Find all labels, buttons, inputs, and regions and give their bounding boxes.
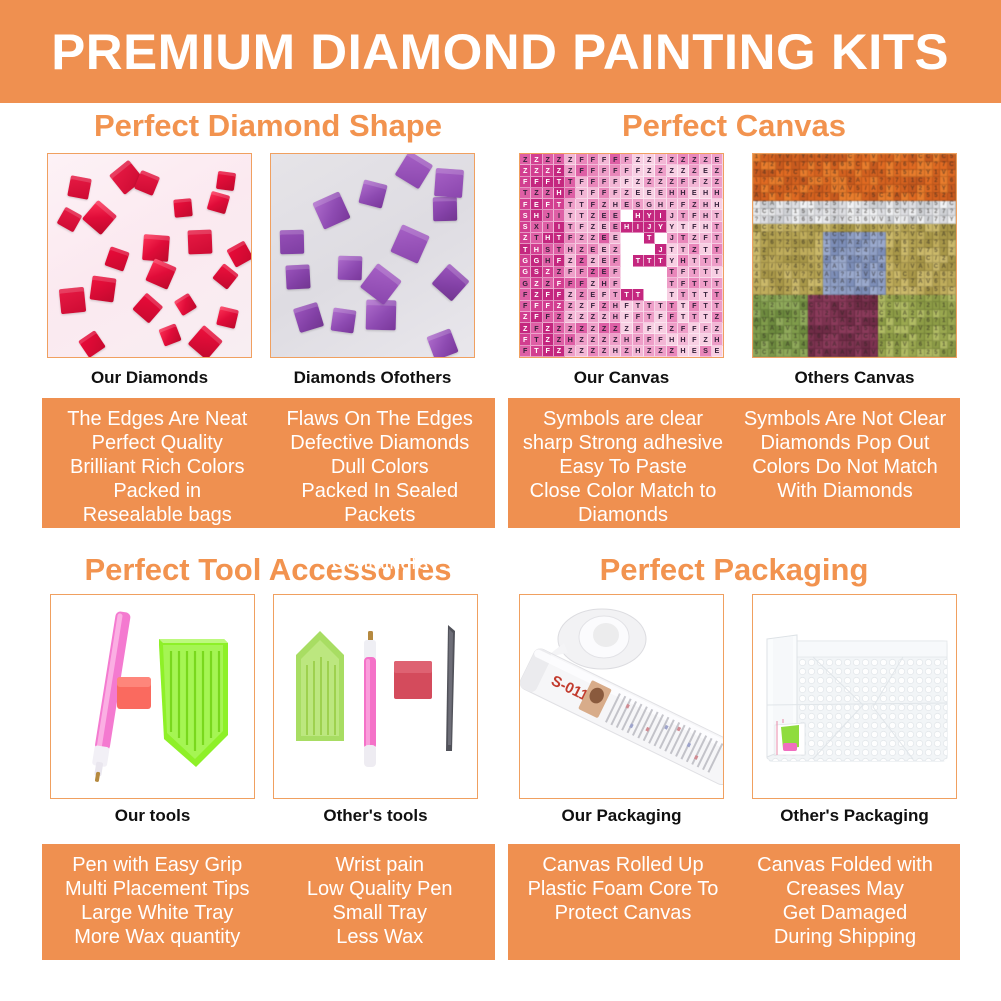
blurry-canvas-cell: C: [855, 162, 863, 170]
blurry-canvas-cell: 1: [792, 209, 800, 217]
canvas-symbol-cell: Z: [678, 165, 689, 176]
blurry-canvas-cell: V: [839, 177, 847, 185]
blurry-canvas-cell: ?: [761, 295, 769, 303]
blurry-canvas-cell: 4: [784, 201, 792, 209]
blurry-canvas-cell: 2: [925, 349, 933, 357]
blurry-canvas-cell: \: [800, 170, 808, 178]
canvas-symbol-cell: F: [700, 323, 711, 334]
canvas-symbol-cell: T: [700, 278, 711, 289]
canvas-symbol-cell: F: [531, 177, 542, 188]
canvas-symbol-cell: T: [644, 289, 655, 300]
blurry-canvas-cell: 5: [808, 216, 816, 224]
canvas-symbol-cell: T: [689, 312, 700, 323]
canvas-symbol-cell: Z: [576, 334, 587, 345]
blurry-canvas-cell: ?: [901, 232, 909, 240]
panel-column-our-packaging: Canvas Rolled Up Plastic Foam Core To Pr…: [512, 853, 734, 925]
canvas-symbol-cell: E: [689, 188, 700, 199]
blurry-canvas-cell: 7: [800, 185, 808, 193]
canvas-symbol-cell: T: [565, 210, 576, 221]
canvas-symbol-cell: Z: [678, 154, 689, 165]
canvas-symbol-cell: T: [644, 278, 655, 289]
canvas-symbol-cell: T: [565, 199, 576, 210]
diamond-bead: [158, 323, 181, 346]
blurry-canvas-cell: 6: [886, 209, 894, 217]
blurry-canvas-cell: \: [761, 279, 769, 287]
canvas-symbol-cell: Z: [543, 267, 554, 278]
blurry-canvas-cell: \: [784, 216, 792, 224]
blurry-canvas-cell: 2: [800, 318, 808, 326]
blurry-canvas-cell: 1: [940, 302, 948, 310]
blurry-canvas-cell: V: [901, 341, 909, 349]
our-tools-illustration: [51, 595, 255, 799]
blurry-canvas-cell: /: [909, 271, 917, 279]
blurry-canvas-cell: \: [761, 310, 769, 318]
blurry-canvas-cell: C: [886, 279, 894, 287]
text-panel-packaging: Canvas Rolled Up Plastic Foam Core To Pr…: [508, 844, 960, 960]
canvas-symbol-cell: S: [520, 222, 531, 233]
blurry-canvas-cell: A: [784, 341, 792, 349]
blurry-canvas-cell: 1: [917, 256, 925, 264]
canvas-symbol-cell: Z: [655, 177, 666, 188]
blurry-canvas-cell: 5: [761, 341, 769, 349]
photo-our-tools: [50, 594, 255, 799]
canvas-symbol-cell: F: [689, 177, 700, 188]
blurry-canvas-cell: 5: [940, 326, 948, 334]
blurry-canvas-cell: 2: [784, 224, 792, 232]
blurry-canvas-cell: \: [948, 185, 956, 193]
canvas-symbol-cell: T: [531, 346, 542, 357]
canvas-symbol-cell: T: [667, 267, 678, 278]
blurry-canvas-cell: A: [894, 193, 902, 201]
canvas-symbol-cell: Z: [667, 177, 678, 188]
blurry-canvas-cell: \: [878, 154, 886, 162]
blurry-canvas-cell: 7: [792, 318, 800, 326]
blurry-canvas-cell: 2: [769, 295, 777, 303]
blurry-canvas-cell: A: [909, 256, 917, 264]
blurry-canvas-cell: /: [847, 224, 855, 232]
blurry-canvas-cell: A: [855, 341, 863, 349]
blurry-canvas-cell: /: [901, 263, 909, 271]
blurry-canvas-cell: C: [761, 232, 769, 240]
canvas-symbol-cell: Z: [576, 323, 587, 334]
canvas-symbol-cell: F: [610, 267, 621, 278]
blurry-canvas-cell: 4: [792, 349, 800, 357]
canvas-symbol-cell: Z: [565, 301, 576, 312]
blurry-canvas-cell: 6: [862, 287, 870, 295]
blurry-canvas-cell: \: [831, 271, 839, 279]
blurry-canvas-cell: V: [901, 154, 909, 162]
canvas-symbol-cell: H: [700, 222, 711, 233]
blurry-canvas-cell: 5: [855, 185, 863, 193]
blurry-canvas-cell: 2: [769, 162, 777, 170]
canvas-symbol-cell: T: [554, 244, 565, 255]
canvas-symbol-cell: Y: [667, 255, 678, 266]
blurry-canvas-cell: 5: [815, 287, 823, 295]
blurry-canvas-cell: /: [878, 162, 886, 170]
blurry-canvas-cell: V: [925, 162, 933, 170]
blurry-canvas-cell: \: [753, 334, 761, 342]
blurry-canvas-cell: 6: [808, 295, 816, 303]
canvas-symbol-cell: F: [543, 199, 554, 210]
blurry-canvas-cell: ?: [792, 201, 800, 209]
blurry-canvas-cell: ?: [909, 162, 917, 170]
blurry-canvas-cell: V: [878, 279, 886, 287]
canvas-symbol-cell: F: [588, 177, 599, 188]
blurry-canvas-cell: A: [948, 302, 956, 310]
diamond-bead: [173, 198, 192, 217]
canvas-symbol-cell: Z: [576, 289, 587, 300]
blurry-canvas-cell: \: [800, 248, 808, 256]
blurry-canvas-cell: 2: [917, 170, 925, 178]
canvas-symbol-cell: Y: [655, 222, 666, 233]
blurry-canvas-cell: 5: [823, 177, 831, 185]
blurry-canvas-cell: /: [948, 349, 956, 357]
blurry-canvas-cell: C: [847, 154, 855, 162]
blurry-canvas-cell: V: [855, 224, 863, 232]
blurry-canvas-cell: 7: [761, 162, 769, 170]
canvas-symbol-cell: H: [655, 199, 666, 210]
blurry-canvas-cell: 5: [933, 248, 941, 256]
blurry-canvas-cell: ?: [808, 279, 816, 287]
blurry-canvas-cell: \: [753, 177, 761, 185]
blurry-canvas-cell: Y: [776, 232, 784, 240]
blurry-canvas-cell: 6: [808, 263, 816, 271]
blurry-canvas-cell: ?: [847, 201, 855, 209]
diamond-bead: [174, 293, 197, 316]
diamond-bead: [188, 230, 213, 255]
canvas-symbol-cell: Z: [588, 278, 599, 289]
blurry-canvas-cell: 2: [761, 248, 769, 256]
canvas-symbol-cell: H: [678, 334, 689, 345]
canvas-symbol-cell: F: [565, 267, 576, 278]
canvas-symbol-cell: T: [531, 334, 542, 345]
blurry-canvas-cell: C: [917, 232, 925, 240]
canvas-symbol-cell: Z: [599, 301, 610, 312]
blurry-canvas-cell: A: [831, 263, 839, 271]
blurry-canvas-cell: Y: [901, 185, 909, 193]
panel-column-other-packaging: Canvas Folded with Creases May Get Damag…: [734, 853, 956, 949]
blurry-canvas-cell: 1: [909, 177, 917, 185]
blurry-canvas-cell: 1: [831, 326, 839, 334]
text-panel-canvas: Symbols are clear sharp Strong adhesive …: [508, 398, 960, 528]
canvas-symbol-cell: Z: [520, 233, 531, 244]
blurry-canvas-cell: C: [808, 302, 816, 310]
blurry-canvas-cell: 5: [776, 295, 784, 303]
canvas-symbol-cell: Z: [531, 165, 542, 176]
blurry-canvas-cell: 4: [792, 326, 800, 334]
canvas-symbol-cell: T: [621, 289, 632, 300]
blurry-canvas-cell: 6: [815, 334, 823, 342]
blurry-canvas-cell: ?: [815, 170, 823, 178]
blurry-canvas-cell: 2: [823, 334, 831, 342]
blurry-canvas-cell: 4: [753, 271, 761, 279]
blurry-canvas-cell: 7: [862, 302, 870, 310]
blurry-canvas-cell: /: [823, 318, 831, 326]
blurry-canvas-cell: \: [839, 154, 847, 162]
canvas-symbol-cell: F: [621, 154, 632, 165]
canvas-symbol-cell: E: [610, 233, 621, 244]
canvas-symbol-cell: F: [531, 323, 542, 334]
blurry-canvas-cell: 5: [815, 302, 823, 310]
blurry-canvas-cell: 1: [808, 201, 816, 209]
canvas-symbol-cell: J: [655, 233, 666, 244]
blurry-canvas-cell: ?: [909, 349, 917, 357]
other-tools-art: [274, 595, 477, 798]
blurry-canvas-cell: ?: [933, 318, 941, 326]
canvas-symbol-cell: G: [520, 267, 531, 278]
canvas-symbol-cell: J: [655, 244, 666, 255]
blurry-canvas-cell: 7: [753, 185, 761, 193]
blurry-canvas-cell: 7: [823, 302, 831, 310]
canvas-symbol-grid: ZZZZZFFFFFZZFZZZZEZZZZZFFFFFFZZZZZEZFFFT…: [520, 154, 723, 357]
blurry-canvas-cell: /: [761, 263, 769, 271]
canvas-symbol-cell: F: [610, 165, 621, 176]
canvas-symbol-cell: Z: [599, 334, 610, 345]
blurry-canvas-cell: V: [886, 224, 894, 232]
blurry-canvas-cell: 1: [855, 271, 863, 279]
blurry-canvas-cell: ?: [940, 279, 948, 287]
canvas-symbol-cell: G: [520, 255, 531, 266]
blurry-canvas-cell: 1: [933, 326, 941, 334]
blurry-canvas-cell: 6: [933, 279, 941, 287]
blurry-canvas-cell: Y: [909, 216, 917, 224]
blurry-canvas-cell: 4: [815, 326, 823, 334]
blurry-canvas-cell: 1: [815, 240, 823, 248]
blurry-canvas-cell: 2: [933, 177, 941, 185]
canvas-symbol-cell: F: [655, 312, 666, 323]
blurry-canvas-cell: 7: [894, 162, 902, 170]
blurry-canvas-cell: V: [761, 318, 769, 326]
blurry-canvas-cell: 1: [784, 256, 792, 264]
blurry-canvas-cell: Y: [917, 162, 925, 170]
blurry-canvas-cell: \: [925, 232, 933, 240]
blurry-canvas-cell: Y: [862, 154, 870, 162]
caption-other-packaging: Other's Packaging: [752, 806, 957, 826]
canvas-symbol-cell: F: [554, 255, 565, 266]
blurry-canvas-cell: Y: [839, 216, 847, 224]
canvas-symbol-cell: E: [599, 267, 610, 278]
caption-other-diamonds: Diamonds Ofothers: [270, 368, 475, 388]
blurry-canvas-cell: 2: [839, 302, 847, 310]
blurry-canvas-cell: /: [839, 201, 847, 209]
canvas-symbol-cell: Z: [599, 199, 610, 210]
blurry-canvas-cell: 6: [839, 287, 847, 295]
canvas-symbol-cell: Z: [599, 312, 610, 323]
canvas-symbol-cell: F: [588, 188, 599, 199]
blurry-canvas-cell: 5: [776, 310, 784, 318]
canvas-symbol-cell: Z: [520, 165, 531, 176]
canvas-symbol-cell: H: [667, 188, 678, 199]
blurry-canvas-cell: 7: [933, 216, 941, 224]
diamond-bead: [360, 263, 401, 304]
canvas-symbol-cell: Z: [565, 154, 576, 165]
canvas-symbol-cell: F: [621, 165, 632, 176]
blurry-canvas-cell: 5: [917, 224, 925, 232]
canvas-symbol-cell: G: [644, 199, 655, 210]
blurry-canvas-cell: 2: [862, 209, 870, 217]
blurry-canvas-cell: Y: [909, 185, 917, 193]
blurry-canvas-cell: 2: [948, 341, 956, 349]
blurry-canvas-cell: V: [870, 240, 878, 248]
blurry-canvas-cell: A: [839, 318, 847, 326]
blurry-canvas-cell: 4: [831, 170, 839, 178]
canvas-symbol-cell: H: [633, 210, 644, 221]
blurry-canvas-cell: 1: [862, 232, 870, 240]
blurry-canvas-cell: /: [808, 193, 816, 201]
blurry-canvas-cell: 1: [940, 341, 948, 349]
diamond-bead: [206, 191, 229, 214]
blurry-canvas-cell: 7: [769, 287, 777, 295]
blurry-canvas-cell: ?: [808, 310, 816, 318]
canvas-symbol-cell: E: [599, 233, 610, 244]
blurry-canvas-cell: C: [948, 162, 956, 170]
blurry-canvas-cell: 6: [808, 341, 816, 349]
blurry-canvas-cell: 5: [823, 193, 831, 201]
blurry-canvas-cell: ?: [831, 287, 839, 295]
blurry-canvas-cell: A: [870, 185, 878, 193]
diamond-bead: [56, 206, 82, 232]
blurry-canvas-cell: \: [839, 170, 847, 178]
blurry-canvas-cell: V: [886, 232, 894, 240]
canvas-symbol-cell: X: [531, 222, 542, 233]
blurry-canvas-cell: Y: [823, 162, 831, 170]
blurry-canvas-cell: 1: [870, 256, 878, 264]
blurry-canvas-cell: Y: [855, 232, 863, 240]
caption-our-tools: Our tools: [50, 806, 255, 826]
canvas-symbol-cell: Z: [588, 346, 599, 357]
canvas-symbol-cell: F: [520, 177, 531, 188]
canvas-symbol-cell: F: [689, 210, 700, 221]
blurry-canvas-cell: 4: [784, 193, 792, 201]
blurry-canvas-cell: 4: [933, 232, 941, 240]
blurry-canvas-cell: C: [933, 263, 941, 271]
blurry-canvas-cell: 5: [870, 310, 878, 318]
blurry-canvas-cell: V: [784, 326, 792, 334]
canvas-symbol-cell: F: [520, 199, 531, 210]
canvas-symbol-cell: Z: [644, 177, 655, 188]
blurry-canvas-cell: 4: [808, 232, 816, 240]
blurry-canvas-cell: 2: [948, 248, 956, 256]
blurry-canvas-cell: 1: [878, 326, 886, 334]
blurry-canvas-cell: ?: [761, 302, 769, 310]
blurry-canvas-cell: 2: [831, 209, 839, 217]
blurry-canvas-cell: ?: [808, 170, 816, 178]
diamond-bead: [293, 302, 324, 333]
canvas-symbol-cell: F: [644, 334, 655, 345]
canvas-symbol-cell: E: [588, 289, 599, 300]
canvas-symbol-cell: Z: [633, 154, 644, 165]
blurry-canvas-cell: Y: [776, 279, 784, 287]
canvas-symbol-cell: T: [621, 278, 632, 289]
blurry-canvas-cell: 1: [948, 193, 956, 201]
blurry-canvas-cell: 5: [925, 193, 933, 201]
canvas-symbol-cell: F: [576, 177, 587, 188]
blurry-canvas-cell: 2: [823, 287, 831, 295]
canvas-symbol-cell: F: [576, 222, 587, 233]
blurry-canvas-cell: C: [901, 271, 909, 279]
blurry-canvas-cell: 7: [940, 216, 948, 224]
blurry-canvas-cell: 2: [933, 209, 941, 217]
blurry-canvas-cell: 2: [800, 193, 808, 201]
blurry-canvas-cell: A: [870, 232, 878, 240]
canvas-symbol-cell: T: [633, 244, 644, 255]
blurry-canvas-cell: A: [870, 334, 878, 342]
blurry-canvas-cell: A: [753, 248, 761, 256]
blurry-canvas-cell: 6: [823, 232, 831, 240]
canvas-symbol-cell: F: [678, 323, 689, 334]
blurry-canvas-cell: 5: [831, 201, 839, 209]
blurry-canvas-cell: 2: [917, 185, 925, 193]
blurry-canvas-cell: 5: [831, 248, 839, 256]
canvas-symbol-cell: F: [610, 278, 621, 289]
blurry-canvas-cell: 6: [831, 279, 839, 287]
blurry-canvas-cell: V: [792, 271, 800, 279]
blurry-canvas-cell: 6: [940, 349, 948, 357]
blurry-canvas-cell: /: [901, 256, 909, 264]
blurry-canvas-cell: C: [815, 177, 823, 185]
canvas-symbol-cell: F: [520, 346, 531, 357]
blurry-canvas-cell: /: [831, 193, 839, 201]
red-diamonds-art: [48, 154, 251, 357]
blurry-canvas-cell: 1: [940, 240, 948, 248]
blurry-canvas-cell: ?: [933, 334, 941, 342]
header-band: PREMIUM DIAMOND PAINTING KITS: [0, 0, 1001, 103]
other-tools-illustration: [274, 595, 478, 799]
canvas-symbol-cell: Z: [667, 323, 678, 334]
canvas-symbol-cell: F: [610, 154, 621, 165]
blurry-canvas-cell: V: [870, 216, 878, 224]
canvas-symbol-cell: F: [543, 177, 554, 188]
blurry-canvas-cell: A: [847, 295, 855, 303]
blurry-canvas-cell: /: [901, 349, 909, 357]
blurry-canvas-cell: V: [784, 310, 792, 318]
blurry-canvas-cell: ?: [769, 177, 777, 185]
blurry-canvas-cell: 4: [769, 185, 777, 193]
canvas-symbol-cell: F: [599, 165, 610, 176]
our-tools-art: [51, 595, 254, 798]
blurry-canvas-cell: C: [839, 326, 847, 334]
blurry-canvas-cell: V: [901, 193, 909, 201]
canvas-symbol-cell: F: [554, 278, 565, 289]
blurry-canvas-cell: Y: [886, 162, 894, 170]
blurry-canvas-cell: A: [894, 341, 902, 349]
blurry-canvas-cell: Y: [753, 162, 761, 170]
canvas-symbol-cell: Z: [543, 165, 554, 176]
blurry-canvas-cell: \: [925, 263, 933, 271]
canvas-symbol-cell: F: [565, 233, 576, 244]
blurry-canvas-cell: A: [933, 271, 941, 279]
blurry-canvas-cell: V: [870, 154, 878, 162]
blurry-canvas-cell: A: [753, 279, 761, 287]
blurry-canvas-cell: 5: [784, 232, 792, 240]
blurry-canvas-cell: V: [878, 349, 886, 357]
canvas-symbol-cell: E: [599, 244, 610, 255]
canvas-symbol-cell: T: [700, 255, 711, 266]
canvas-symbol-cell: T: [576, 210, 587, 221]
canvas-symbol-cell: J: [667, 233, 678, 244]
canvas-symbol-cell: F: [599, 154, 610, 165]
section-title-packaging: Perfect Packaging: [508, 552, 960, 588]
canvas-symbol-cell: Z: [599, 323, 610, 334]
blurry-canvas-cell: V: [917, 201, 925, 209]
blurry-canvas-cell: 2: [925, 302, 933, 310]
canvas-symbol-cell: H: [531, 244, 542, 255]
canvas-symbol-cell: H: [712, 199, 723, 210]
blurry-canvas-cell: V: [925, 279, 933, 287]
canvas-symbol-cell: T: [700, 244, 711, 255]
blurry-canvas-cell: 7: [815, 216, 823, 224]
canvas-symbol-cell: F: [678, 177, 689, 188]
